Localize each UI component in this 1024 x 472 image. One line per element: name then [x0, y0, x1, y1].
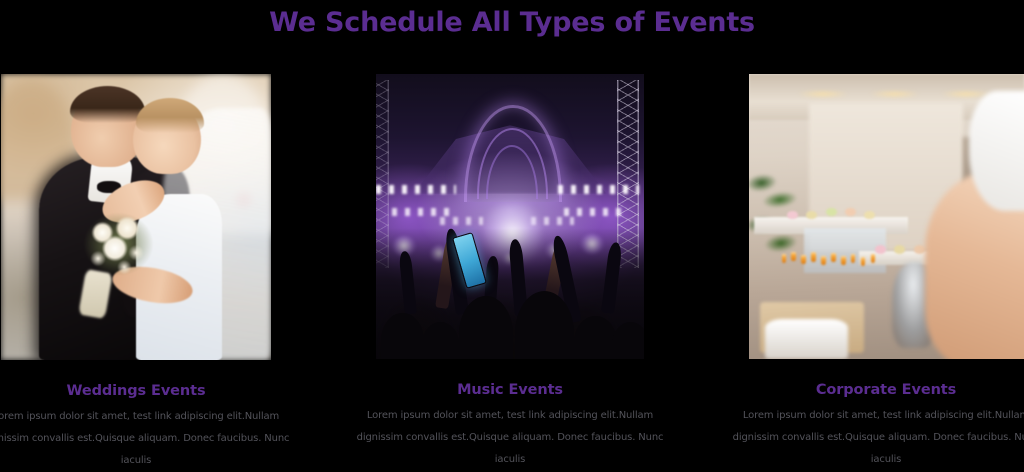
juice-glass [861, 257, 866, 266]
juice-glass-row [782, 251, 892, 308]
corporate-catering-photo[interactable] [749, 74, 1024, 359]
ceiling-light [798, 91, 848, 97]
event-cards-row: Weddings Events Lorem ipsum dolor sit am… [0, 74, 1024, 472]
stage-lightbar [558, 185, 638, 194]
stage-lightbar [376, 185, 456, 194]
crowd-head [459, 296, 513, 359]
event-card-body: Lorem ipsum dolor sit amet, test link ad… [350, 405, 670, 471]
juice-glass [782, 254, 787, 263]
juice-glass [821, 256, 826, 265]
wedding-couple-photo[interactable] [1, 74, 271, 360]
stage-lightbar [392, 208, 451, 217]
page-title: We Schedule All Types of Events [0, 6, 1024, 40]
event-card-title: Weddings Events [67, 382, 206, 400]
stage-lightbar [440, 217, 483, 226]
event-card-body-line2: est.Quisque aliquam. Donec faucibus. Nun… [451, 432, 663, 465]
juice-glass [831, 253, 836, 262]
wedding-soft-focus [1, 74, 271, 360]
event-card-body-line2: est.Quisque aliquam. Donec faucibus. Nun… [827, 432, 1024, 465]
events-section: We Schedule All Types of Events [0, 0, 1024, 442]
crowd-head [612, 322, 644, 359]
event-card-body-line2: est.Quisque aliquam. Donec faucibus. Nun… [77, 433, 289, 466]
juice-glass [851, 254, 856, 263]
stacked-plates [765, 319, 848, 359]
juice-glass [811, 252, 816, 261]
crowd-head [422, 322, 460, 359]
juice-glass [801, 255, 806, 264]
event-card-title: Music Events [457, 381, 563, 399]
canape [914, 245, 925, 254]
event-card-corporate[interactable]: Corporate Events Lorem ipsum dolor sit a… [748, 74, 1024, 471]
canape [894, 245, 905, 254]
event-card-music[interactable]: Music Events Lorem ipsum dolor sit amet,… [375, 74, 645, 471]
ceiling-light [870, 91, 920, 97]
event-card-body: Lorem ipsum dolor sit amet, test link ad… [0, 406, 296, 472]
music-festival-photo[interactable] [376, 74, 644, 359]
event-card-title: Corporate Events [816, 381, 956, 399]
canape [826, 208, 837, 217]
event-card-body: Lorem ipsum dolor sit amet, test link ad… [726, 405, 1024, 471]
juice-glass [841, 256, 846, 265]
juice-glass [791, 252, 796, 261]
juice-glass [871, 254, 876, 263]
stage-lightbar [564, 208, 623, 217]
event-card-weddings[interactable]: Weddings Events Lorem ipsum dolor sit am… [0, 74, 272, 472]
